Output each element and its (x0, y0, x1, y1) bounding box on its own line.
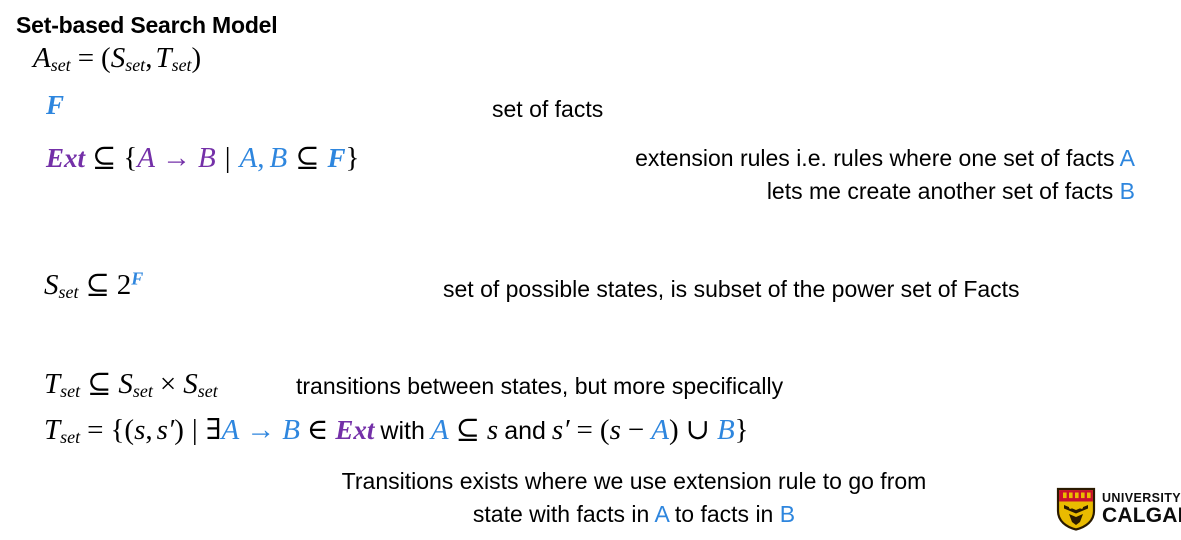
equals-sign: = (80, 414, 110, 446)
brace-open: { (123, 142, 137, 174)
description-line-2: state with facts in A to facts in B (226, 498, 1042, 531)
symbol-B: B (264, 142, 287, 174)
logo-wordmark: UNIVERSITY OF CALGARY (1102, 492, 1181, 527)
symbol-S: S (183, 368, 198, 400)
paren-close: ) (174, 414, 184, 446)
description-facts: set of facts (492, 93, 603, 126)
minus-sign: − (621, 414, 651, 446)
symbol-s: s (134, 414, 145, 446)
subscript-set: set (125, 55, 145, 75)
symbol-B: B (717, 414, 735, 446)
subset-sign: ⊆ (80, 368, 118, 400)
subset-sign: ⊆ (287, 142, 327, 174)
subset-sign: ⊆ (78, 269, 116, 301)
symbol-s: s (487, 414, 498, 446)
symbol-A: A (240, 142, 258, 174)
logo-line-2: CALGARY (1102, 505, 1181, 526)
paren-open: ( (600, 414, 610, 446)
union-sign: ∪ (679, 414, 717, 446)
symbol-facts: F (46, 90, 64, 121)
symbol-s: s (610, 414, 621, 446)
slide-canvas: Set-based Search Model Aset=(Sset,Tset) … (0, 0, 1181, 540)
subset-sign: ⊆ (449, 414, 487, 446)
exists-quantifier: ∃ (206, 414, 222, 446)
highlight-A: A (1120, 145, 1135, 171)
symbol-T: T (44, 414, 60, 446)
arrow-icon: → (155, 142, 198, 174)
subscript-set: set (59, 282, 79, 302)
comma: , (145, 414, 152, 446)
equals-sign: = (71, 42, 101, 74)
subscript-set: set (172, 55, 192, 75)
calgary-shield-icon (1056, 487, 1096, 531)
subscript-set: set (60, 427, 80, 447)
symbol-A: A (33, 42, 51, 74)
paren-open: ( (124, 414, 134, 446)
description-transitions: transitions between states, but more spe… (296, 370, 783, 403)
description-line-2: lets me create another set of facts B (440, 175, 1135, 208)
symbol-s-prime: s′ (552, 414, 570, 446)
highlight-A: A (654, 501, 668, 527)
symbol-s-prime: s′ (153, 414, 175, 446)
subscript-set: set (60, 381, 80, 401)
symbol-transitions-expanded: Tset={(s,s′)|∃A→B∈ExtwithA⊆sands′=(s−A)∪… (44, 412, 749, 448)
paren-open: ( (101, 42, 111, 74)
subscript-set: set (51, 55, 71, 75)
member-sign: ∈ (300, 414, 335, 446)
logo-line-1: UNIVERSITY OF (1102, 492, 1181, 505)
brace-open: { (110, 414, 124, 446)
arrow-icon: → (239, 414, 282, 446)
paren-close: ) (669, 414, 679, 446)
description-states: set of possible states, is subset of the… (443, 273, 1020, 306)
symbol-S: S (111, 42, 126, 74)
description-text: state with facts in (473, 501, 655, 527)
symbol-S: S (44, 269, 59, 301)
symbol-A: A (137, 142, 155, 174)
number-two: 2 (117, 269, 132, 301)
brace-close: } (346, 142, 360, 174)
superscript-F: F (131, 269, 143, 289)
word-and: and (498, 417, 552, 445)
subset-sign: ⊆ (85, 142, 123, 174)
pipe-separator: | (216, 142, 240, 174)
description-text: to facts in (669, 501, 780, 527)
symbol-B: B (198, 142, 216, 174)
description-line-1: Transitions exists where we use extensio… (226, 465, 1042, 498)
times-sign: × (153, 368, 183, 400)
symbol-A: A (431, 414, 449, 446)
brace-close: } (735, 414, 749, 446)
paren-close: ) (192, 42, 202, 74)
description-transitions-expanded: Transitions exists where we use extensio… (226, 465, 1042, 530)
word-with: with (374, 417, 430, 445)
symbol-A: A (221, 414, 239, 446)
page-title: Set-based Search Model (16, 12, 277, 39)
description-line-1: extension rules i.e. rules where one set… (440, 142, 1135, 175)
symbol-states: Sset⊆2F (44, 267, 143, 303)
description-text: extension rules i.e. rules where one set… (635, 145, 1120, 171)
symbol-extension-rules: Ext⊆{A→B|A,B⊆F} (46, 140, 359, 175)
symbol-F: F (328, 143, 346, 173)
symbol-B: B (282, 414, 300, 446)
university-of-calgary-logo: UNIVERSITY OF CALGARY (1056, 487, 1181, 531)
pipe-separator: | (184, 414, 206, 446)
description-extension-rules: extension rules i.e. rules where one set… (440, 142, 1135, 207)
description-text: lets me create another set of facts (767, 178, 1120, 204)
highlight-B: B (780, 501, 795, 527)
equals-sign: = (570, 414, 600, 446)
symbol-T: T (44, 368, 60, 400)
highlight-B: B (1120, 178, 1135, 204)
symbol-ext: Ext (335, 415, 374, 445)
symbol-ext: Ext (46, 143, 85, 173)
subscript-set: set (133, 381, 153, 401)
symbol-S: S (118, 368, 133, 400)
symbol-transitions: Tset⊆Sset×Sset (44, 366, 218, 402)
symbol-T: T (152, 42, 171, 74)
automaton-definition: Aset=(Sset,Tset) (33, 42, 201, 76)
subscript-set: set (198, 381, 218, 401)
symbol-A: A (651, 414, 669, 446)
